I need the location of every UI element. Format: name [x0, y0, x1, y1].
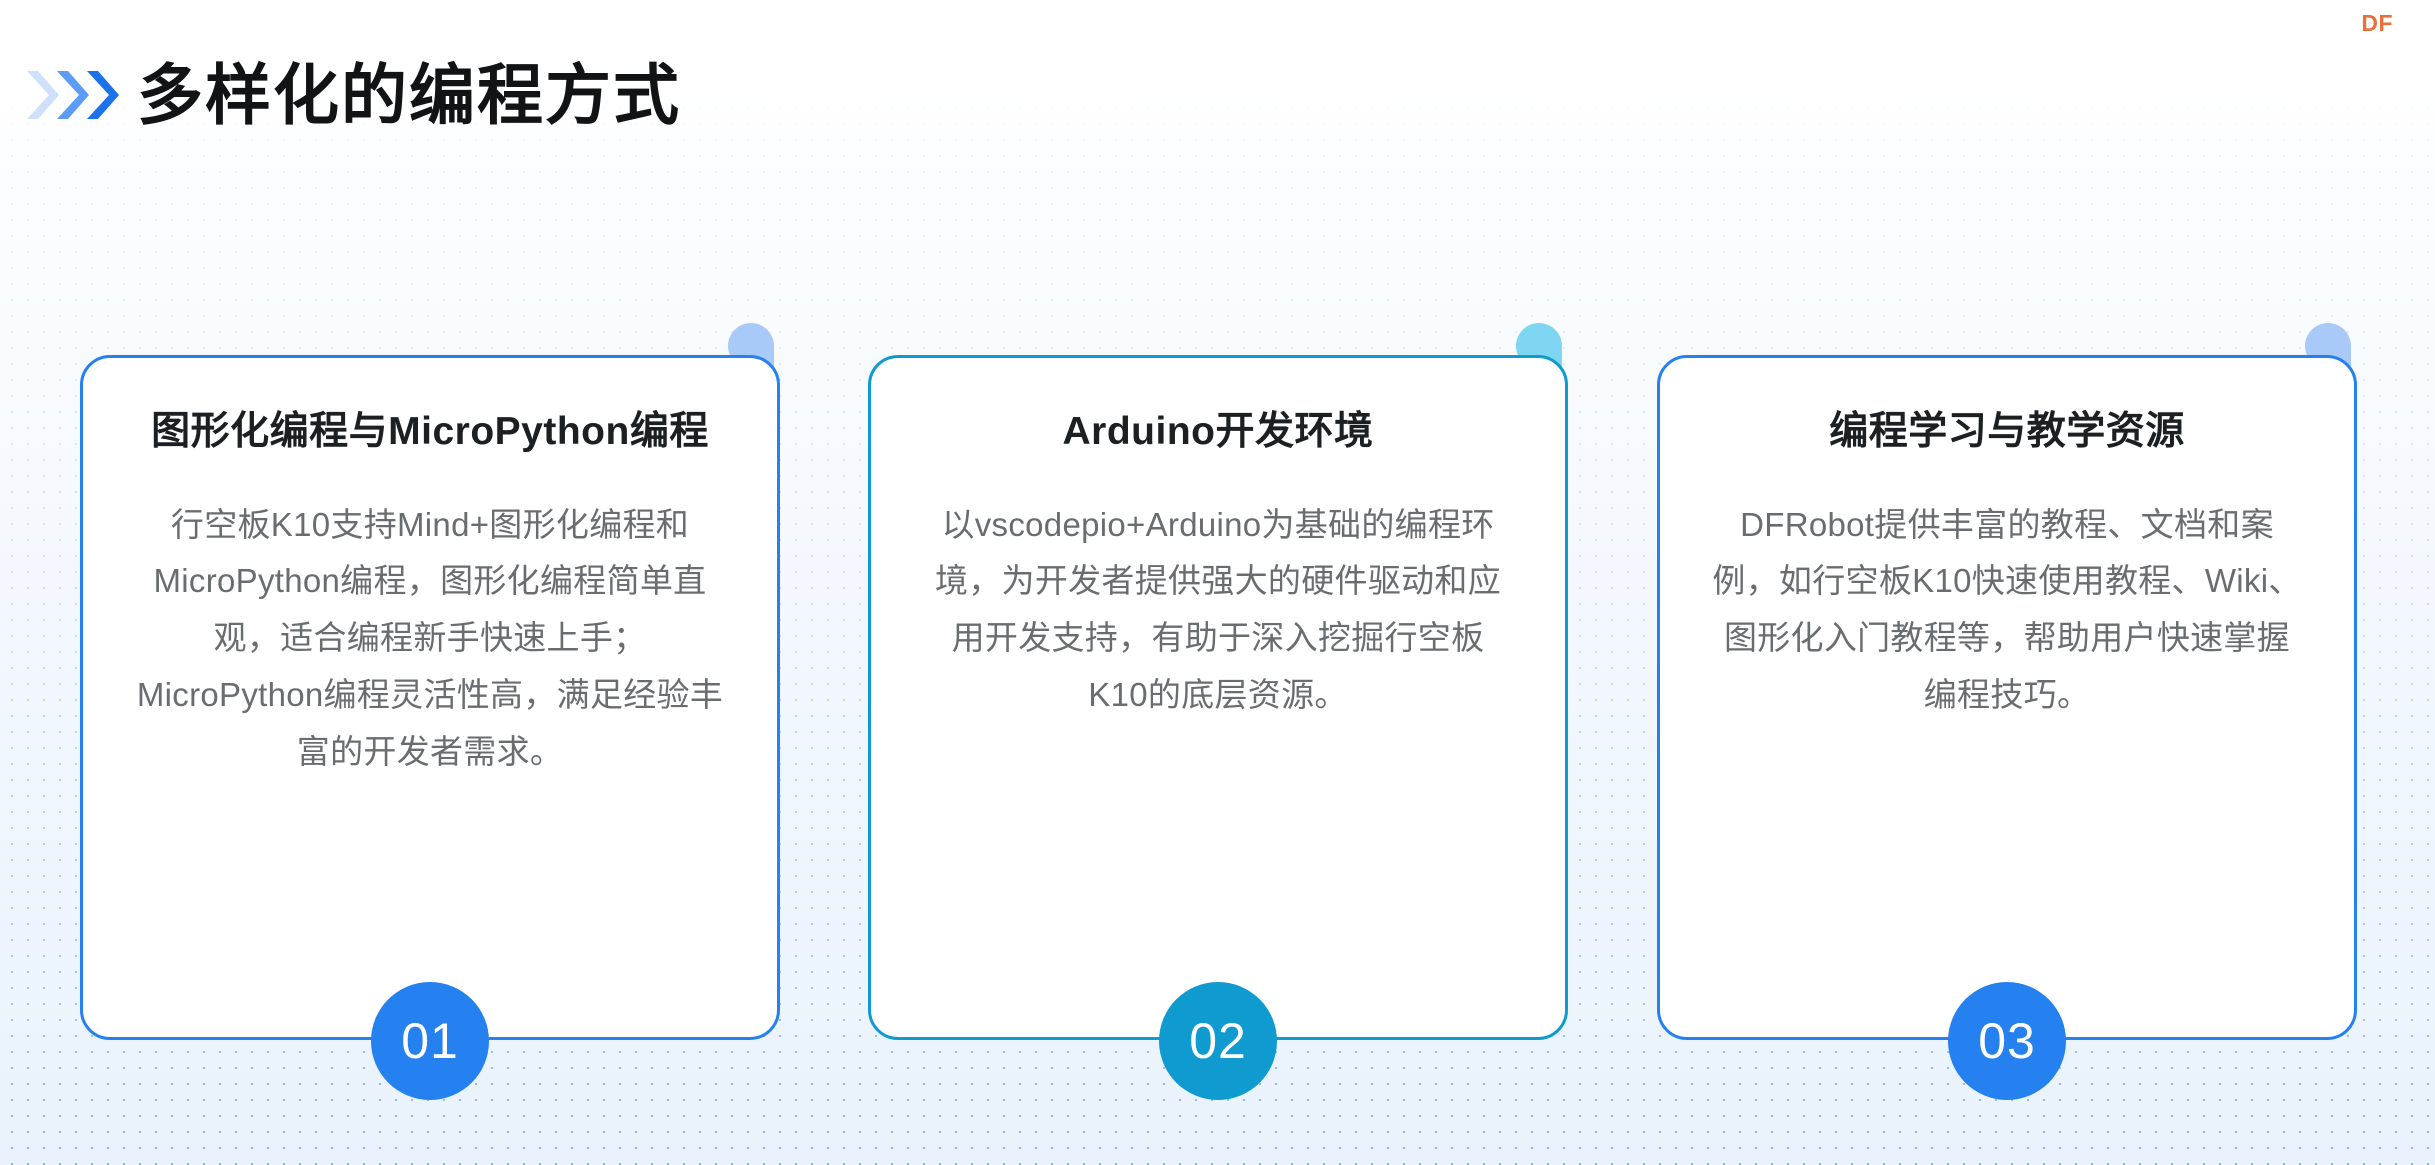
card-body-2: 以vscodepio+Arduino为基础的编程环境，为开发者提供强大的硬件驱动… [923, 497, 1513, 724]
chevron-3-icon [85, 69, 119, 121]
chevron-1-icon [25, 69, 59, 121]
card-body-3: DFRobot提供丰富的教程、文档和案例，如行空板K10快速使用教程、Wiki、… [1712, 497, 2302, 724]
feature-card-2: Arduino开发环境 以vscodepio+Arduino为基础的编程环境，为… [868, 355, 1568, 1055]
card-body-1: 行空板K10支持Mind+图形化编程和MicroPython编程，图形化编程简单… [135, 497, 725, 781]
card-number-badge-2: 02 [1159, 982, 1277, 1100]
feature-card-1: 图形化编程与MicroPython编程 行空板K10支持Mind+图形化编程和M… [80, 355, 780, 1055]
slide-root: DF 多样化的编程方式 图形化编程与MicroPython编程 行空板K10支持… [0, 0, 2435, 1165]
feature-card-3: 编程学习与教学资源 DFRobot提供丰富的教程、文档和案例，如行空板K10快速… [1657, 355, 2357, 1055]
card-number-badge-3: 03 [1948, 982, 2066, 1100]
card-title-1: 图形化编程与MicroPython编程 [135, 406, 725, 459]
card-title-2: Arduino开发环境 [923, 406, 1513, 459]
card-panel-2: Arduino开发环境 以vscodepio+Arduino为基础的编程环境，为… [868, 355, 1568, 1040]
card-panel-3: 编程学习与教学资源 DFRobot提供丰富的教程、文档和案例，如行空板K10快速… [1657, 355, 2357, 1040]
chevron-group [25, 69, 115, 121]
slide-header: 多样化的编程方式 [0, 18, 681, 172]
df-logo: DF [2361, 10, 2393, 37]
feature-card-row: 图形化编程与MicroPython编程 行空板K10支持Mind+图形化编程和M… [0, 355, 2435, 1055]
card-number-badge-1: 01 [371, 982, 489, 1100]
chevron-2-icon [55, 69, 89, 121]
card-panel-1: 图形化编程与MicroPython编程 行空板K10支持Mind+图形化编程和M… [80, 355, 780, 1040]
card-title-3: 编程学习与教学资源 [1712, 406, 2302, 459]
page-title: 多样化的编程方式 [137, 62, 681, 128]
